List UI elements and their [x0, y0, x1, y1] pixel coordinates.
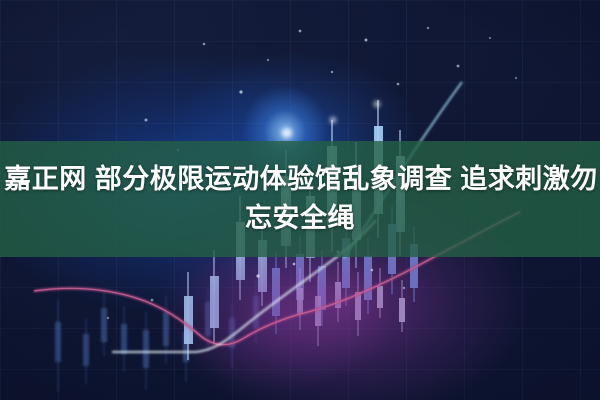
banner-image: 嘉正网 部分极限运动体验馆乱象调查 追求刺激勿 忘安全绳 — [0, 0, 600, 400]
title-band: 嘉正网 部分极限运动体验馆乱象调查 追求刺激勿 忘安全绳 — [0, 141, 600, 257]
candle-group-back — [55, 280, 259, 392]
headline-line-2: 忘安全绳 — [245, 199, 355, 238]
headline-line-1: 嘉正网 部分极限运动体验馆乱象调查 追求刺激勿 — [2, 160, 598, 199]
candle-group-lower-purple — [297, 262, 405, 346]
